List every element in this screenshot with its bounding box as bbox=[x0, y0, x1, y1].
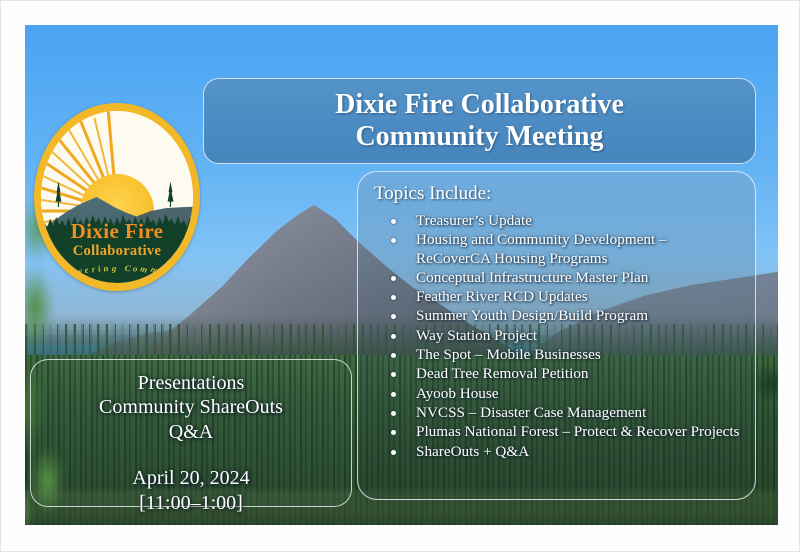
event-time: [11:00–1:00] bbox=[132, 491, 249, 515]
topic-item: Conceptual Infrastructure Master Plan bbox=[384, 269, 743, 287]
logo-title: Dixie Fire bbox=[41, 221, 193, 242]
event-info-panel: Presentations Community ShareOuts Q&A Ap… bbox=[30, 359, 352, 507]
topics-heading: Topics Include: bbox=[374, 184, 743, 205]
topic-item: ShareOuts + Q&A bbox=[384, 443, 743, 461]
dixie-fire-collaborative-logo: Dixie Fire Collaborative Empowering Comm… bbox=[34, 103, 200, 291]
topic-item: The Spot – Mobile Businesses bbox=[384, 346, 743, 364]
logo-inner-disc: Dixie Fire Collaborative Empowering Comm… bbox=[41, 111, 193, 283]
topics-list: Treasurer’s UpdateHousing and Community … bbox=[372, 212, 743, 461]
title-line-1: Dixie Fire Collaborative bbox=[335, 89, 624, 121]
title-panel: Dixie Fire Collaborative Community Meeti… bbox=[203, 78, 756, 164]
topic-item: Plumas National Forest – Protect & Recov… bbox=[384, 423, 743, 441]
topic-item: NVCSS – Disaster Case Management bbox=[384, 404, 743, 422]
topic-item: Feather River RCD Updates bbox=[384, 288, 743, 306]
event-date: April 20, 2024 bbox=[132, 466, 249, 490]
topic-item: Dead Tree Removal Petition bbox=[384, 365, 743, 383]
agenda-line-3: Q&A bbox=[99, 420, 283, 444]
topic-item: Way Station Project bbox=[384, 327, 743, 345]
topic-item: Housing and Community Development – ReCo… bbox=[384, 231, 743, 268]
agenda-line-2: Community ShareOuts bbox=[99, 395, 283, 419]
logo-tagline: Empowering Community bbox=[41, 266, 193, 276]
poster-frame: Dixie Fire Collaborative Empowering Comm… bbox=[0, 0, 800, 552]
poster-title: Dixie Fire Collaborative Community Meeti… bbox=[321, 89, 638, 154]
agenda-lines: Presentations Community ShareOuts Q&A bbox=[99, 371, 283, 444]
logo-subtitle: Collaborative bbox=[41, 244, 193, 259]
agenda-line-1: Presentations bbox=[99, 371, 283, 395]
topic-item: Summer Youth Design/Build Program bbox=[384, 307, 743, 325]
topic-item: Treasurer’s Update bbox=[384, 212, 743, 230]
topic-item: Ayoob House bbox=[384, 385, 743, 403]
topics-panel: Topics Include: Treasurer’s UpdateHousin… bbox=[357, 171, 756, 500]
title-line-2: Community Meeting bbox=[335, 121, 624, 153]
logo-text: Dixie Fire Collaborative bbox=[41, 221, 193, 259]
event-datetime: April 20, 2024 [11:00–1:00] bbox=[132, 466, 249, 515]
